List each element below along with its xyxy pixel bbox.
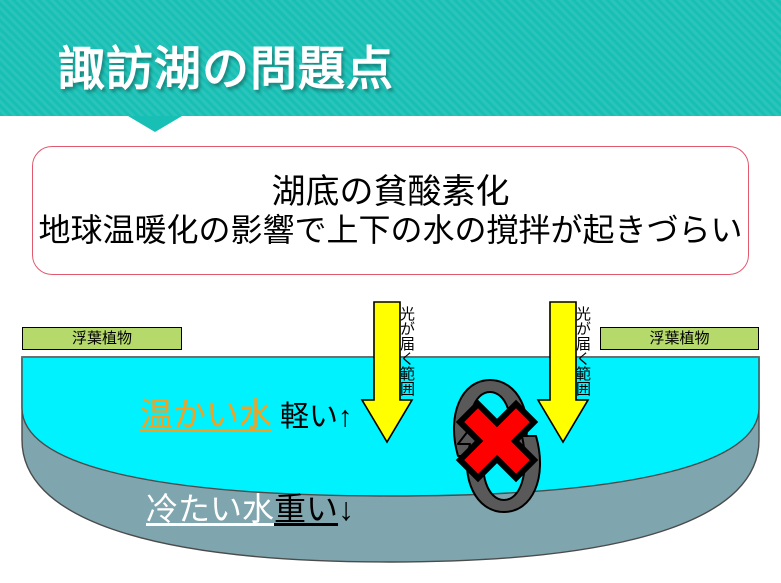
callout-box: 湖底の貧酸素化 地球温暖化の影響で上下の水の撹拌が起きづらい (32, 146, 749, 275)
light-range-arrow-left-label: 光が届く範囲 (360, 306, 414, 410)
plant-label-right: 浮葉植物 (600, 327, 759, 350)
light-range-arrow-left: 光が届く範囲 (360, 300, 414, 448)
warm-water-label: 温かい水 (140, 396, 272, 433)
plant-label-left: 浮葉植物 (22, 327, 182, 350)
slide-canvas: 諏訪湖の問題点 湖底の貧酸素化 地球温暖化の影響で上下の水の撹拌が起きづらい 浮… (0, 0, 781, 583)
cold-water-caption: 冷たい水重い↓ (146, 484, 354, 530)
warm-water-note: 軽い↑ (272, 401, 353, 433)
callout-subtext: 地球温暖化の影響で上下の水の撹拌が起きづらい (38, 212, 742, 250)
cold-water-label: 冷たい水 (146, 491, 274, 527)
blocked-circulation-group (436, 370, 560, 520)
page-title: 諏訪湖の問題点 (58, 30, 394, 99)
cold-water-note: 重い (274, 491, 338, 527)
warm-water-caption: 温かい水軽い↑ (140, 388, 353, 436)
callout-heading: 湖底の貧酸素化 (272, 172, 510, 212)
cold-water-note-arrow: ↓ (338, 491, 354, 527)
header-notch-triangle (128, 116, 182, 132)
